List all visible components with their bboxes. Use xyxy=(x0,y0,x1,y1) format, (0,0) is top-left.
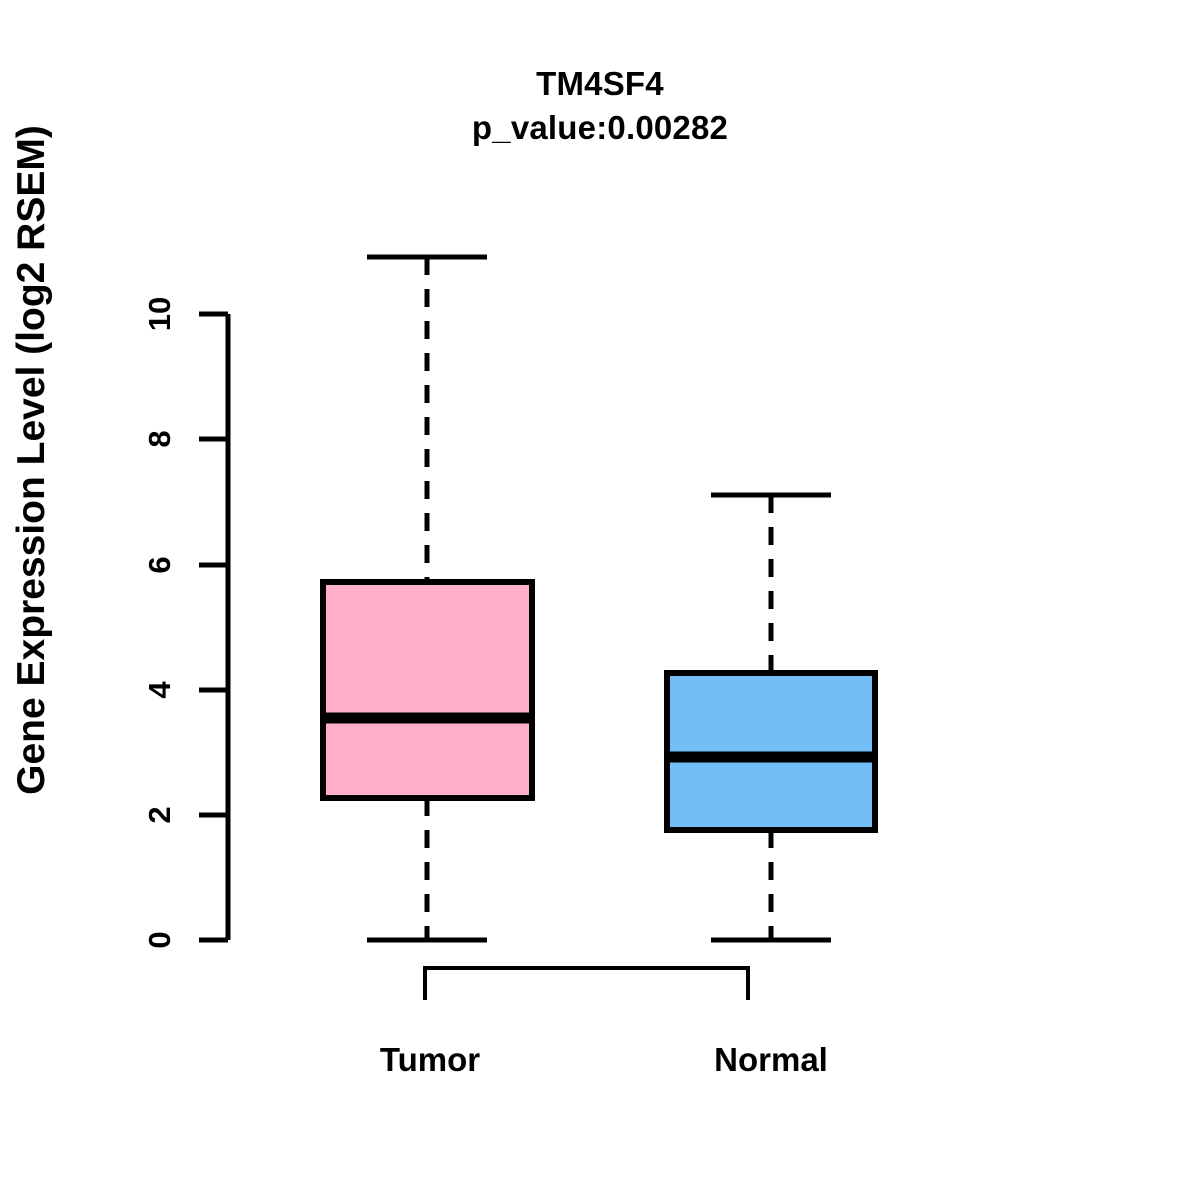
y-axis xyxy=(199,314,228,940)
y-tick-label-8: 8 xyxy=(143,409,177,469)
boxplot-figure: TM4SF4 p_value:0.00282 Gene Expression L… xyxy=(0,0,1200,1200)
y-tick-label-0: 0 xyxy=(143,910,177,970)
comparison-bracket xyxy=(423,968,750,1000)
y-tick-label-2: 2 xyxy=(143,785,177,845)
tumor-iqr-box xyxy=(323,582,532,798)
plot-canvas xyxy=(0,0,1200,1200)
box-tumor[interactable] xyxy=(323,257,532,940)
y-tick-label-4: 4 xyxy=(143,660,177,720)
box-normal[interactable] xyxy=(667,495,875,940)
x-axis-label-normal: Normal xyxy=(621,1040,921,1080)
x-axis-label-tumor: Tumor xyxy=(280,1040,580,1080)
y-tick-label-6: 6 xyxy=(143,535,177,595)
y-tick-label-10: 10 xyxy=(143,284,177,344)
